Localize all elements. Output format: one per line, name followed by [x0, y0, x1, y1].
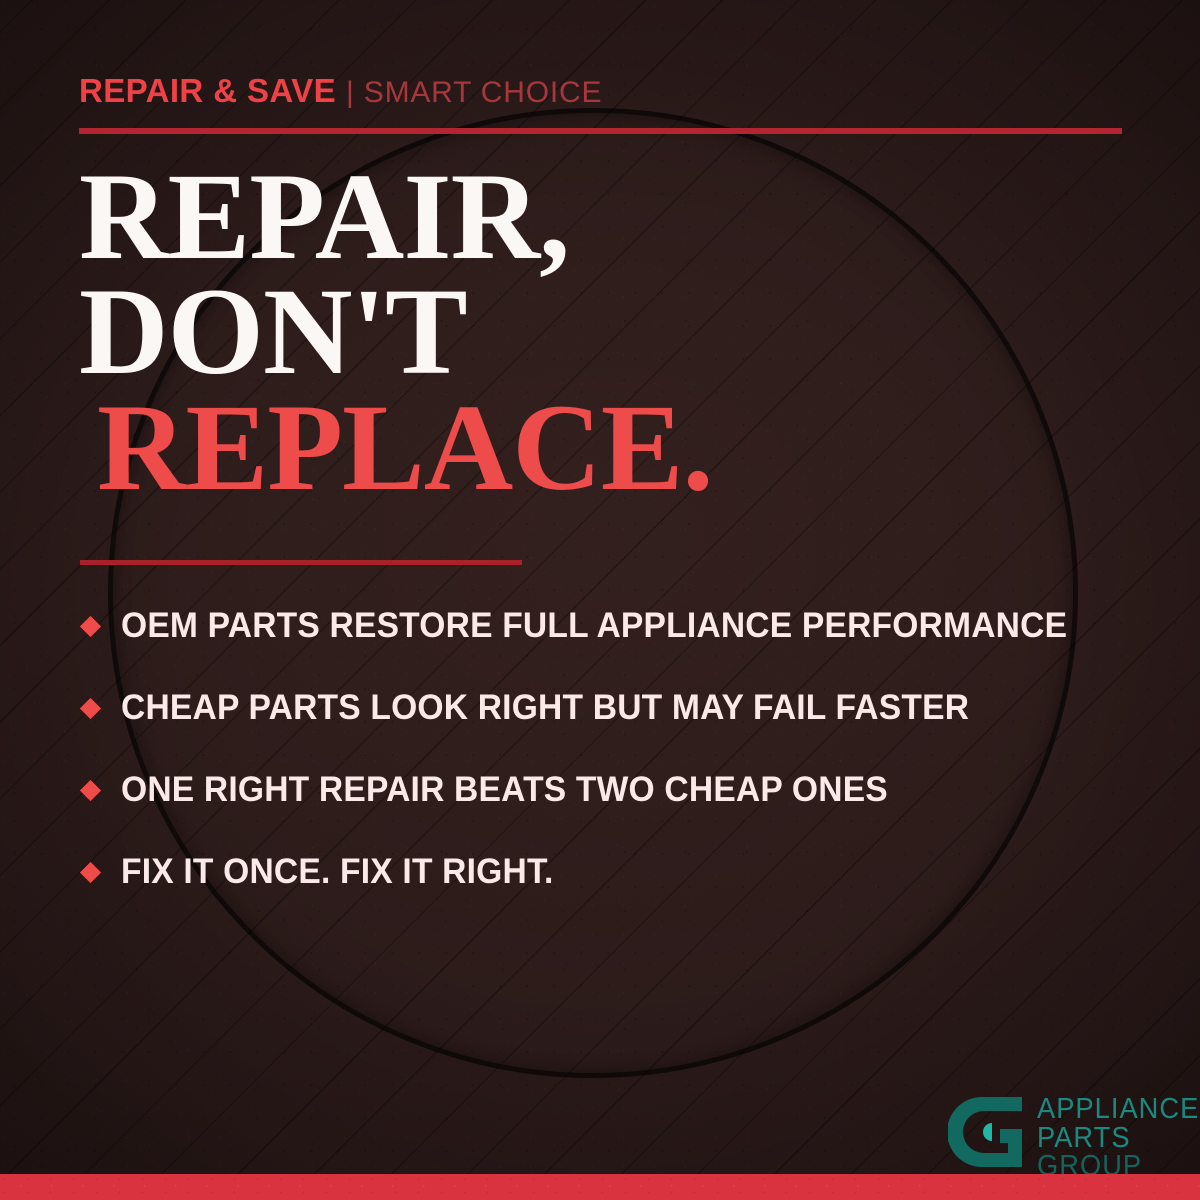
diamond-icon	[80, 861, 101, 882]
headline-line-2: DON'T	[79, 274, 713, 389]
list-item-label: FIX IT ONCE. FIX IT RIGHT.	[121, 852, 553, 892]
brand-logo: APPLIANCE PARTS GROUP	[948, 1093, 1200, 1181]
diamond-icon	[80, 615, 101, 636]
benefits-list: OEM PARTS RESTORE FULL APPLIANCE PERFORM…	[80, 585, 1160, 913]
brand-logo-wordmark: APPLIANCE PARTS GROUP	[1037, 1093, 1200, 1181]
headline-line-1: REPAIR,	[79, 159, 713, 274]
headline-divider-rule	[80, 560, 522, 565]
headline-line-3: REPLACE.	[79, 390, 713, 505]
poster-content: REPAIR & SAVE| SMART CHOICE REPAIR, DON'…	[0, 0, 1200, 1200]
list-item: FIX IT ONCE. FIX IT RIGHT.	[80, 831, 1160, 913]
kicker-main-text: REPAIR & SAVE	[79, 72, 336, 109]
footer-bar-texture	[0, 1174, 1200, 1200]
diamond-icon	[80, 697, 101, 718]
kicker-eyebrow: REPAIR & SAVE| SMART CHOICE	[79, 74, 602, 108]
list-item-label: CHEAP PARTS LOOK RIGHT BUT MAY FAIL FAST…	[121, 688, 969, 728]
promotional-poster: REPAIR & SAVE| SMART CHOICE REPAIR, DON'…	[0, 0, 1200, 1200]
list-item: ONE RIGHT REPAIR BEATS TWO CHEAP ONES	[80, 749, 1160, 831]
footer-accent-bar	[0, 1174, 1200, 1200]
list-item: CHEAP PARTS LOOK RIGHT BUT MAY FAIL FAST…	[80, 667, 1160, 749]
list-item: OEM PARTS RESTORE FULL APPLIANCE PERFORM…	[80, 585, 1160, 667]
list-item-label: ONE RIGHT REPAIR BEATS TWO CHEAP ONES	[121, 770, 888, 810]
diamond-icon	[80, 779, 101, 800]
list-item-label: OEM PARTS RESTORE FULL APPLIANCE PERFORM…	[121, 606, 1067, 646]
brand-logo-line-1: APPLIANCE	[1037, 1095, 1199, 1124]
kicker-sub-text: | SMART CHOICE	[346, 76, 602, 109]
header-divider-rule	[79, 128, 1122, 134]
brand-logo-line-2: PARTS	[1037, 1124, 1199, 1153]
letter-g-logo-icon	[948, 1093, 1026, 1171]
page-title: REPAIR, DON'T REPLACE.	[79, 159, 713, 505]
